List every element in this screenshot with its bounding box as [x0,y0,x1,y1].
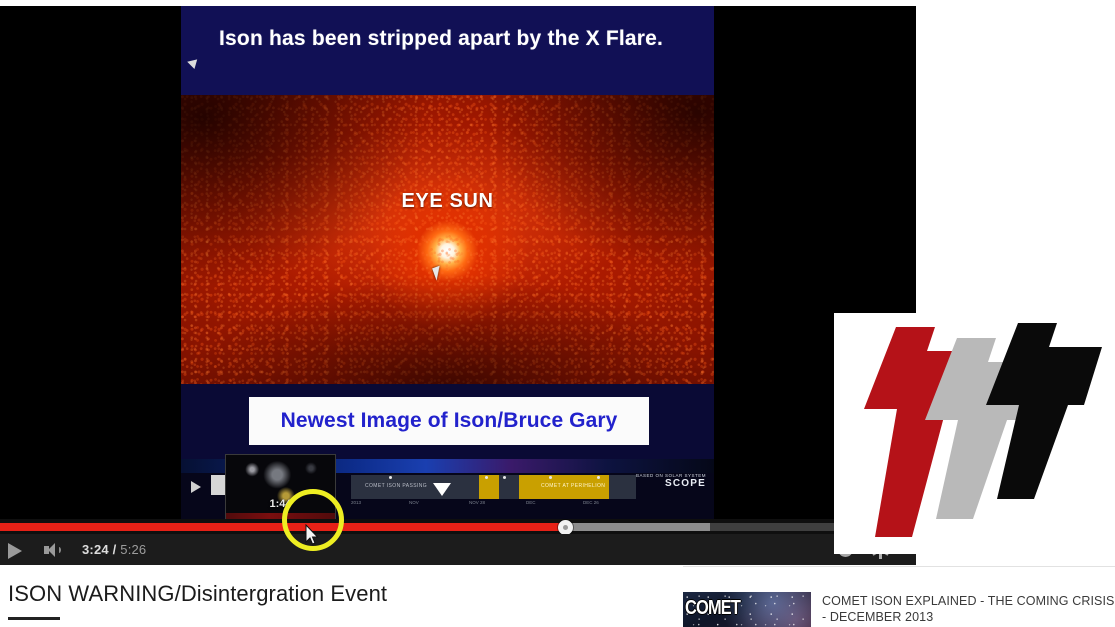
video-stage[interactable]: Ison has been stripped apart by the X Fl… [0,6,916,519]
inner-timeline-tick [503,476,506,479]
slide-header: Ison has been stripped apart by the X Fl… [181,6,714,95]
slide-headline: Ison has been stripped apart by the X Fl… [219,25,669,52]
related-video-title[interactable]: COMET ISON EXPLAINED - THE COMING CRISIS… [822,592,1115,625]
time-separator: / [109,542,120,557]
total-time: 5:26 [120,542,146,557]
inner-timeline-axis: 2013 NOV NOV 28 DEC DEC 26 [351,500,636,508]
logo-t-gray-stem [936,420,1007,519]
inner-timeline-marker-icon [433,483,451,496]
related-video-item[interactable]: COMET COMET ISON EXPLAINED - THE COMING … [683,592,1115,627]
current-time: 3:24 [82,542,109,557]
title-underline [8,617,60,620]
sun-image: EYE SUN [181,95,714,384]
volume-wave [57,547,61,553]
seek-preview-image [226,455,335,521]
time-display: 3:24 / 5:26 [82,542,146,557]
inner-timeline-tick [485,476,488,479]
inner-play-icon [191,481,201,493]
screenshot-root: Ison has been stripped apart by the X Fl… [0,0,1115,627]
progress-scrubber-handle[interactable] [558,520,573,535]
sidebar-divider [683,566,1115,567]
logo-t-red-stem [875,409,946,537]
eye-sun-label: EYE SUN [181,190,714,213]
page-title: ISON WARNING/Disintergration Event [8,581,387,607]
slide-caption-area: Newest Image of Ison/Bruce Gary [181,384,714,459]
progress-bar[interactable] [0,519,916,534]
logo-t-black [986,323,1102,405]
thumbnail-comet-text: COMET [685,597,740,620]
inner-timeline-tick [549,476,552,479]
video-player[interactable]: Ison has been stripped apart by the X Fl… [0,6,916,565]
inner-timeline-tick [389,476,392,479]
inner-timeline: COMET ISON PASSING COMET AT PERIHELION [351,475,636,499]
ttt-logo-graphic [834,313,1115,554]
scope-big-label: SCOPE [636,478,706,489]
slide-content: Ison has been stripped apart by the X Fl… [181,6,714,519]
volume-speaker-cone [48,543,55,557]
inner-timeline-tick [597,476,600,479]
ttt-logo [834,313,1115,554]
inner-timeline-segment-a [479,475,499,499]
volume-icon[interactable] [44,543,66,557]
play-button[interactable] [8,543,22,559]
seek-preview-thumbnail: 1:44 [225,454,336,522]
seek-preview-time: 1:44 [226,498,335,510]
slide-caption: Newest Image of Ison/Bruce Gary [249,397,649,445]
related-video-thumbnail[interactable]: COMET [683,592,811,627]
sun-vignette [181,95,714,384]
inner-timeline-label-1: COMET ISON PASSING [365,483,427,489]
progress-played [0,523,566,531]
inner-timeline-label-2: COMET AT PERIHELION [541,483,605,489]
scope-branding: BASED ON SOLAR SYSTEM SCOPE [636,473,706,499]
player-control-bar: 3:24 / 5:26 [0,534,916,565]
